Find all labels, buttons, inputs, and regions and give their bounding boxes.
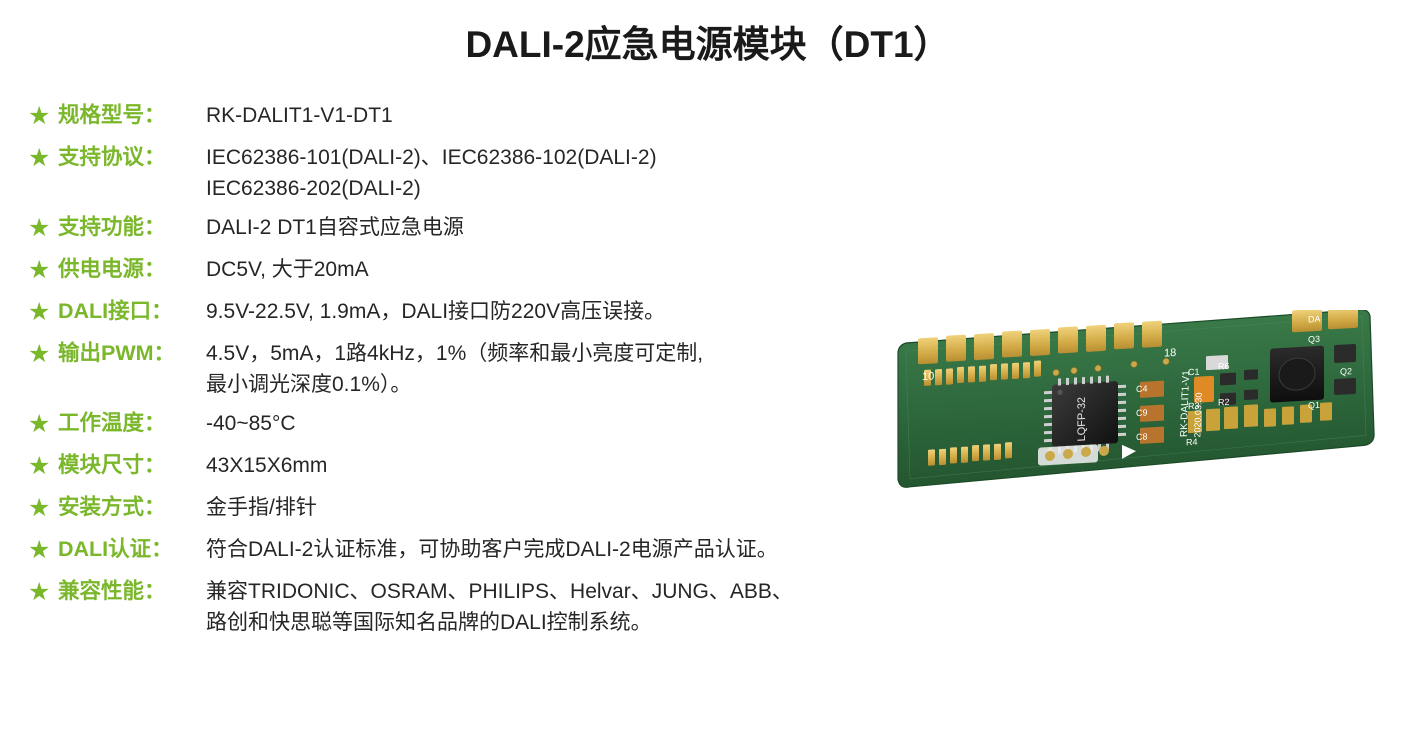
spec-label: 兼容性能： xyxy=(58,576,206,607)
spec-value-line2: 路创和快思聪等国际知名品牌的DALI控制系统。 xyxy=(206,607,928,638)
spec-value: DC5V, 大于20mA xyxy=(206,254,928,285)
spec-label: DALI认证： xyxy=(58,534,206,565)
star-icon: ★ xyxy=(28,338,58,369)
star-icon: ★ xyxy=(28,296,58,327)
spec-value: 金手指/排针 xyxy=(206,492,928,523)
star-icon: ★ xyxy=(28,142,58,173)
spec-label: 规格型号： xyxy=(58,100,206,131)
spec-row: ★ 供电电源： DC5V, 大于20mA xyxy=(28,254,928,285)
spec-row: ★ 安装方式： 金手指/排针 xyxy=(28,492,928,523)
spec-row: ★ DALI接口： 9.5V-22.5V, 1.9mA，DALI接口防220V高… xyxy=(28,296,928,327)
spec-row: ★ 输出PWM： 4.5V，5mA，1路4kHz，1%（频率和最小亮度可定制, … xyxy=(28,338,928,400)
spec-label: DALI接口： xyxy=(58,296,206,327)
spec-row: ★ 工作温度： -40~85°C xyxy=(28,408,928,439)
star-icon: ★ xyxy=(28,254,58,285)
silk-q2: Q2 xyxy=(1340,366,1352,377)
spec-value: 9.5V-22.5V, 1.9mA，DALI接口防220V高压误接。 xyxy=(206,296,928,327)
spec-row: ★ DALI认证： 符合DALI-2认证标准，可协助客户完成DALI-2电源产品… xyxy=(28,534,928,565)
spec-value: 43X15X6mm xyxy=(206,450,928,481)
page-title: DALI-2应急电源模块（DT1） xyxy=(0,14,1416,68)
silk-c4: C4 xyxy=(1136,383,1148,394)
spec-label: 模块尺寸： xyxy=(58,450,206,481)
star-icon: ★ xyxy=(28,534,58,565)
spec-value-line2: IEC62386-202(DALI-2) xyxy=(206,173,928,204)
spec-label: 安装方式： xyxy=(58,492,206,523)
spec-value-line1: 4.5V，5mA，1路4kHz，1%（频率和最小亮度可定制, xyxy=(206,342,703,365)
spec-value-line1: IEC62386-101(DALI-2)、IEC62386-102(DALI-2… xyxy=(206,146,657,169)
spec-row: ★ 规格型号： RK-DALIT1-V1-DT1 xyxy=(28,100,928,131)
spec-label: 支持功能： xyxy=(58,212,206,243)
silk-pin-left: 10 xyxy=(922,370,934,383)
spec-row: ★ 支持功能： DALI-2 DT1自容式应急电源 xyxy=(28,212,928,243)
spec-value: 4.5V，5mA，1路4kHz，1%（频率和最小亮度可定制, 最小调光深度0.1… xyxy=(206,338,928,400)
spec-value-line2: 最小调光深度0.1%）。 xyxy=(206,369,928,400)
silk-board-name: RK-DALIT1-V1 xyxy=(1179,370,1192,437)
spec-label: 工作温度： xyxy=(58,408,206,439)
silk-q1: Q1 xyxy=(1308,400,1320,411)
page-root: DALI-2应急电源模块（DT1） ★ 规格型号： RK-DALIT1-V1-D… xyxy=(0,0,1416,750)
spec-value: 兼容TRIDONIC、OSRAM、PHILIPS、Helvar、JUNG、ABB… xyxy=(206,576,928,638)
spec-label: 输出PWM： xyxy=(58,338,206,369)
spec-value: 符合DALI-2认证标准，可协助客户完成DALI-2电源产品认证。 xyxy=(206,534,928,565)
star-icon: ★ xyxy=(28,450,58,481)
svg-text:LQFP-32: LQFP-32 xyxy=(1076,397,1088,442)
spec-value: RK-DALIT1-V1-DT1 xyxy=(206,100,928,131)
spec-value-line1: 兼容TRIDONIC、OSRAM、PHILIPS、Helvar、JUNG、ABB… xyxy=(206,580,793,603)
silk-c8: C8 xyxy=(1136,431,1148,442)
silk-c9: C9 xyxy=(1136,407,1148,418)
spec-label: 支持协议： xyxy=(58,142,206,173)
spec-value: -40~85°C xyxy=(206,408,928,439)
spec-row: ★ 模块尺寸： 43X15X6mm xyxy=(28,450,928,481)
spec-list: ★ 规格型号： RK-DALIT1-V1-DT1 ★ 支持协议： IEC6238… xyxy=(28,100,928,646)
silk-board-date: 2020.03.30 xyxy=(1192,392,1204,437)
silk-q3: Q3 xyxy=(1308,334,1320,345)
silk-da: DA xyxy=(1308,314,1321,325)
silk-r6: R6 xyxy=(1218,361,1230,372)
star-icon: ★ xyxy=(28,492,58,523)
spec-row: ★ 兼容性能： 兼容TRIDONIC、OSRAM、PHILIPS、Helvar、… xyxy=(28,576,928,638)
pcb-module-image: LQFP-32 xyxy=(888,310,1388,530)
star-icon: ★ xyxy=(28,212,58,243)
spec-label: 供电电源： xyxy=(58,254,206,285)
spec-row: ★ 支持协议： IEC62386-101(DALI-2)、IEC62386-10… xyxy=(28,142,928,204)
silk-pin-right: 18 xyxy=(1164,347,1176,360)
spec-value: IEC62386-101(DALI-2)、IEC62386-102(DALI-2… xyxy=(206,142,928,204)
silk-r2: R2 xyxy=(1218,397,1230,408)
star-icon: ★ xyxy=(28,100,58,131)
star-icon: ★ xyxy=(28,576,58,607)
spec-value: DALI-2 DT1自容式应急电源 xyxy=(206,212,928,243)
star-icon: ★ xyxy=(28,408,58,439)
